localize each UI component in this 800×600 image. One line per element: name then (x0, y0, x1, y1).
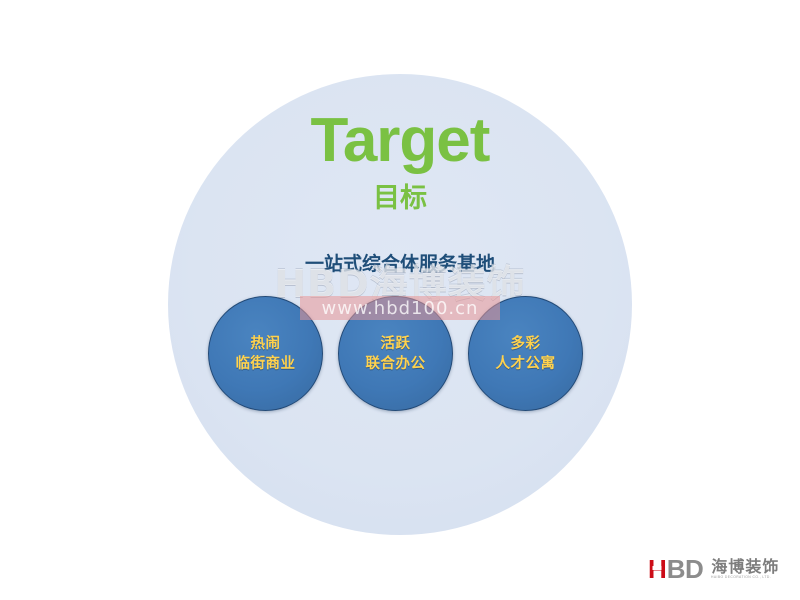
logo-mark-h: H (648, 556, 667, 582)
bubble-apartment-line1: 多彩 (511, 334, 541, 354)
page-subtitle: 一站式综合体服务基地 (168, 252, 632, 276)
logo-name-cn: 海博装饰 (711, 558, 779, 575)
logo-name-en: HAIBO DECORATION CO., LTD. (711, 575, 782, 580)
slide-canvas: Target 目标 一站式综合体服务基地 HBD海博装饰 热闹 临街商业 活跃 … (0, 0, 800, 600)
bubble-coworking-line2: 联合办公 (366, 354, 426, 374)
logo-name-group: 海博装饰 HAIBO DECORATION CO., LTD. (711, 558, 779, 580)
bubble-apartment[interactable]: 多彩 人才公寓 (468, 296, 583, 411)
logo-mark-bd: BD (667, 556, 704, 582)
company-logo: HBD 海博装饰 HAIBO DECORATION CO., LTD. (648, 556, 779, 582)
bubble-coworking[interactable]: 活跃 联合办公 (338, 296, 453, 411)
bubble-retail-line1: 热闹 (251, 334, 281, 354)
bubble-apartment-line2: 人才公寓 (496, 354, 556, 374)
bubble-retail-line2: 临街商业 (236, 354, 296, 374)
bubble-coworking-line1: 活跃 (381, 334, 411, 354)
bubble-retail[interactable]: 热闹 临街商业 (208, 296, 323, 411)
